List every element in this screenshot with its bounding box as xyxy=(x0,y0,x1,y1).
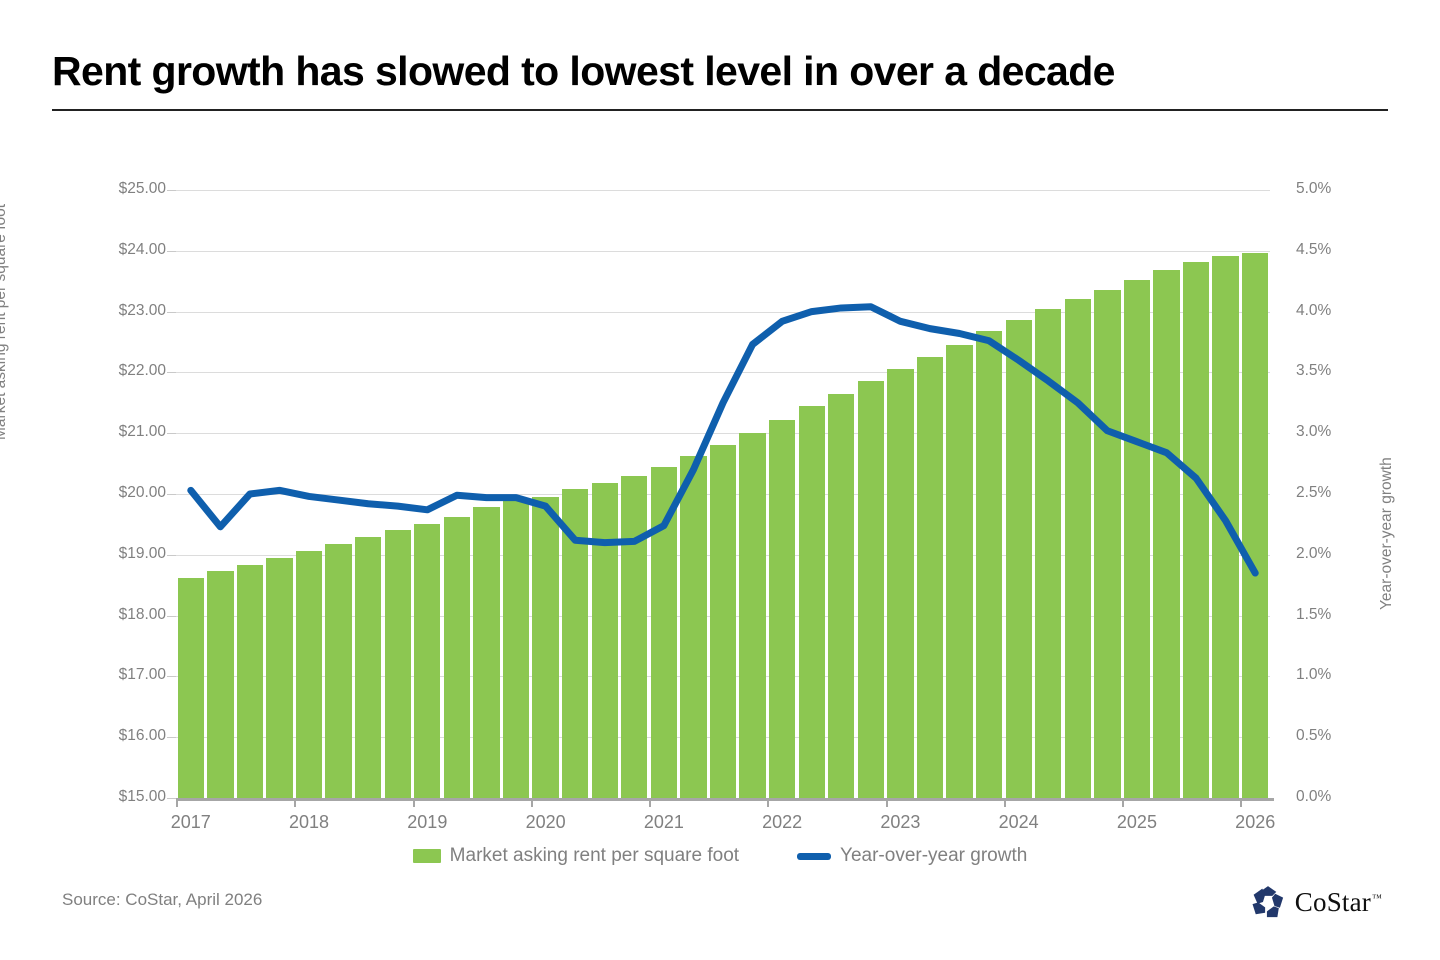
costar-pinwheel-icon xyxy=(1250,884,1286,920)
legend-swatch-line-icon xyxy=(797,853,831,860)
x-axis-line xyxy=(176,798,1274,801)
costar-logo: CoStar™ xyxy=(1250,884,1382,920)
x-axis-tick-mark xyxy=(1122,798,1124,807)
y-axis-tick-label: $25.00 xyxy=(40,180,166,198)
x-axis-tick-label: 2026 xyxy=(1235,812,1275,833)
y2-axis-tick-label: 0.0% xyxy=(1296,788,1331,806)
x-axis-tick-label: 2023 xyxy=(880,812,920,833)
x-axis-tick-label: 2020 xyxy=(526,812,566,833)
plot-area xyxy=(176,190,1270,798)
y-axis-tick-mark xyxy=(167,555,176,556)
y-axis-tick-label: $20.00 xyxy=(40,484,166,502)
x-axis-tick-mark xyxy=(294,798,296,807)
y-axis-tick-mark xyxy=(167,676,176,677)
y2-axis-tick-label: 4.5% xyxy=(1296,241,1331,259)
title-divider xyxy=(52,109,1388,111)
x-axis-tick-mark xyxy=(767,798,769,807)
title-block: Rent growth has slowed to lowest level i… xyxy=(52,48,1388,111)
y-axis-tick-label: $24.00 xyxy=(40,241,166,259)
x-axis-tick-label: 2019 xyxy=(407,812,447,833)
x-axis-tick-mark xyxy=(886,798,888,807)
growth-line-svg xyxy=(176,190,1270,798)
y-axis-tick-label: $18.00 xyxy=(40,606,166,624)
x-axis-tick-label: 2024 xyxy=(999,812,1039,833)
x-axis-tick-mark xyxy=(1004,798,1006,807)
year-over-year-growth-line xyxy=(191,307,1255,573)
x-axis-tick-label: 2022 xyxy=(762,812,802,833)
x-axis-tick-mark xyxy=(1240,798,1242,807)
y-axis-tick-mark xyxy=(167,433,176,434)
legend-swatch-bar-icon xyxy=(413,849,441,863)
x-axis-tick-mark xyxy=(413,798,415,807)
y-axis-tick-mark xyxy=(167,251,176,252)
y2-axis-tick-label: 2.0% xyxy=(1296,545,1331,563)
x-axis-tick-mark xyxy=(649,798,651,807)
y-axis-tick-label: $22.00 xyxy=(40,362,166,380)
y2-axis-title: Year-over-year growth xyxy=(1378,280,1396,610)
x-axis-tick-label: 2025 xyxy=(1117,812,1157,833)
line-series xyxy=(176,190,1270,798)
y-axis-tick-mark xyxy=(167,616,176,617)
y2-axis-tick-label: 4.0% xyxy=(1296,302,1331,320)
x-axis-tick-label: 2017 xyxy=(171,812,211,833)
y-axis-tick-mark xyxy=(167,737,176,738)
y-axis-tick-mark xyxy=(167,494,176,495)
source-note: Source: CoStar, April 2026 xyxy=(62,890,262,910)
page-title: Rent growth has slowed to lowest level i… xyxy=(52,48,1388,95)
legend-item-bar[interactable]: Market asking rent per square foot xyxy=(413,845,739,867)
y-axis-tick-label: $16.00 xyxy=(40,727,166,745)
y2-axis-tick-label: 1.5% xyxy=(1296,606,1331,624)
x-axis-tick-label: 2018 xyxy=(289,812,329,833)
x-axis-tick-label: 2021 xyxy=(644,812,684,833)
y2-axis-tick-label: 0.5% xyxy=(1296,727,1331,745)
legend-label-bar: Market asking rent per square foot xyxy=(450,845,739,867)
y2-axis-tick-label: 5.0% xyxy=(1296,180,1331,198)
trademark-symbol: ™ xyxy=(1372,893,1382,904)
y2-axis-tick-label: 3.0% xyxy=(1296,423,1331,441)
y-axis-tick-mark xyxy=(167,372,176,373)
x-axis-tick-mark xyxy=(176,798,178,807)
y-axis-tick-label: $21.00 xyxy=(40,423,166,441)
y2-axis-tick-label: 2.5% xyxy=(1296,484,1331,502)
y2-axis-tick-label: 3.5% xyxy=(1296,362,1331,380)
y-axis-tick-label: $17.00 xyxy=(40,666,166,684)
costar-wordmark: CoStar™ xyxy=(1295,887,1382,918)
y-axis-tick-label: $19.00 xyxy=(40,545,166,563)
y-axis-title: Market asking rent per square foot xyxy=(0,110,10,440)
y-axis-tick-mark xyxy=(167,798,176,799)
chart-legend: Market asking rent per square foot Year-… xyxy=(0,845,1440,867)
y2-axis-tick-label: 1.0% xyxy=(1296,666,1331,684)
x-axis-tick-mark xyxy=(531,798,533,807)
y-axis-tick-mark xyxy=(167,190,176,191)
legend-item-line[interactable]: Year-over-year growth xyxy=(797,845,1027,867)
y-axis-tick-label: $15.00 xyxy=(40,788,166,806)
legend-label-line: Year-over-year growth xyxy=(840,845,1027,867)
costar-wordmark-text: CoStar xyxy=(1295,887,1371,917)
chart-container: Market asking rent per square foot Year-… xyxy=(0,150,1440,850)
y-axis-tick-label: $23.00 xyxy=(40,302,166,320)
y-axis-tick-mark xyxy=(167,312,176,313)
